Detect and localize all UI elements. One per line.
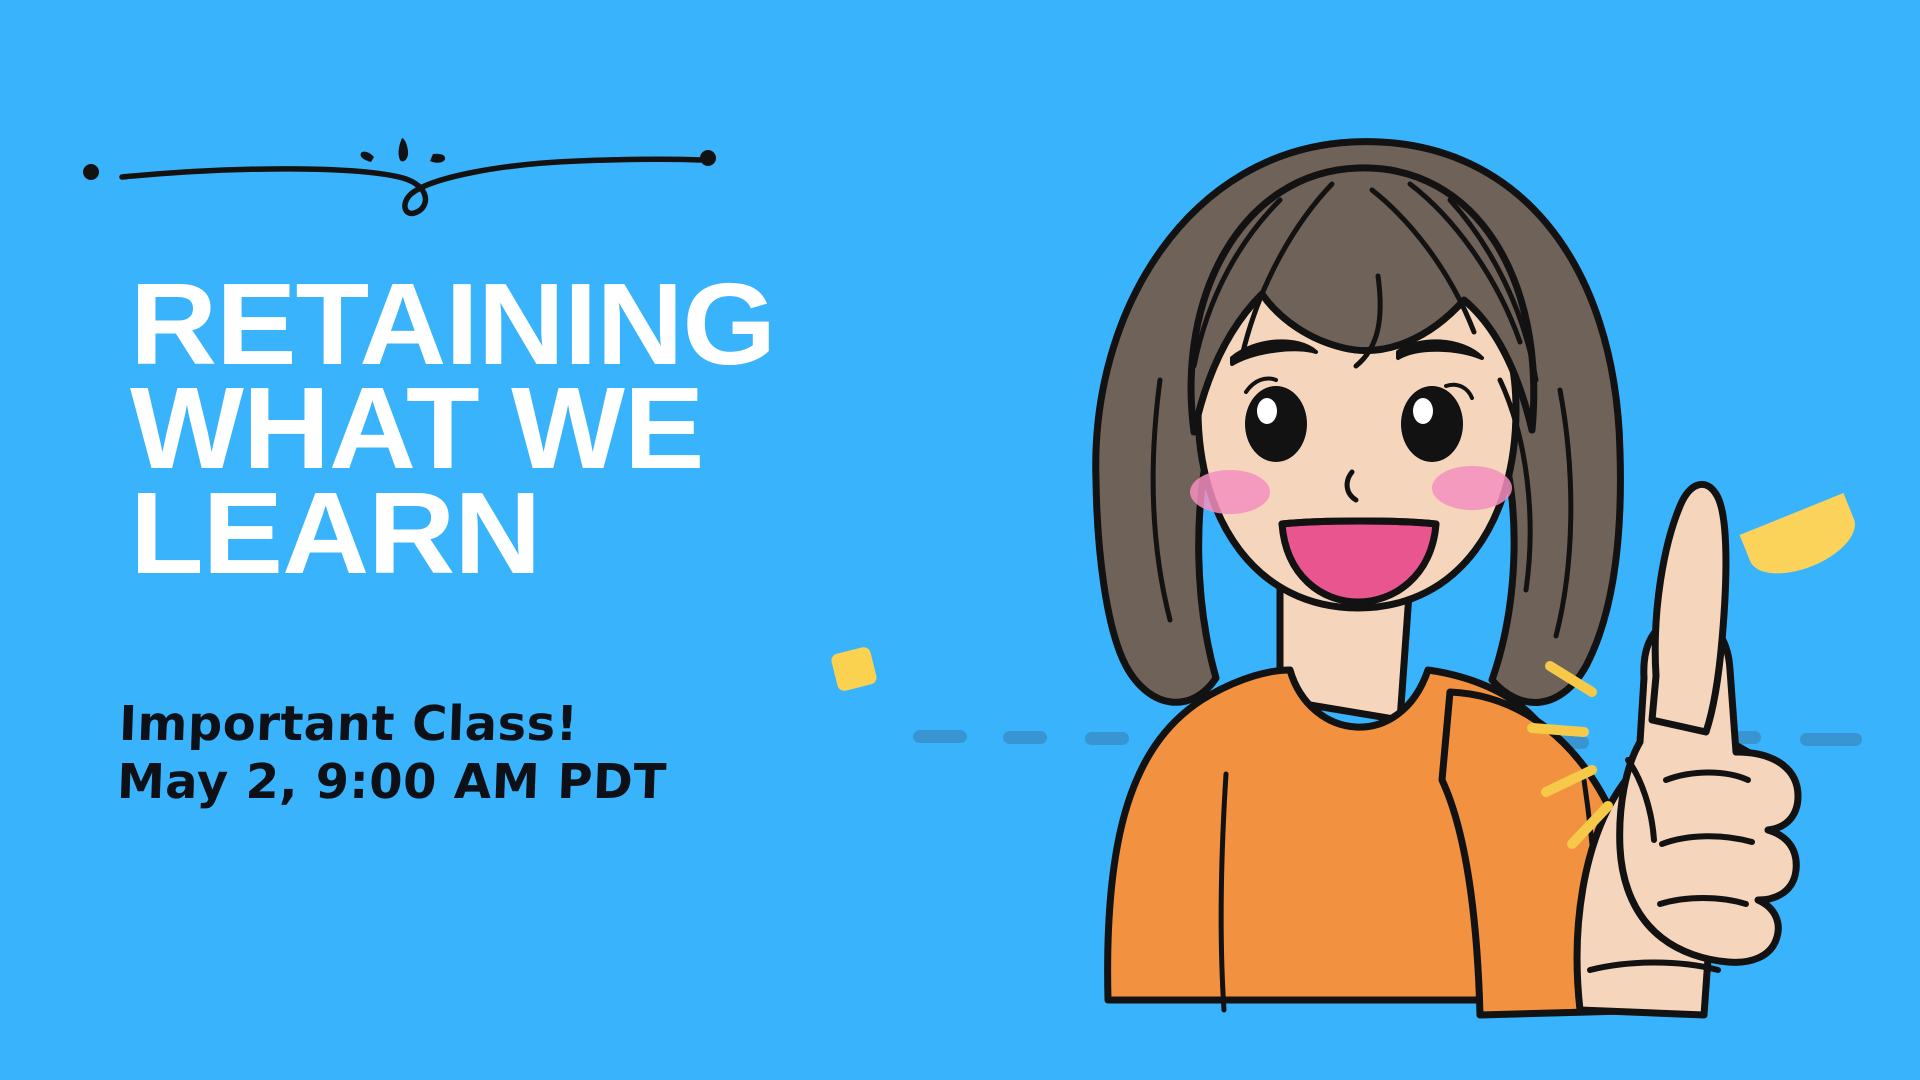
eyelash-left: [1246, 379, 1276, 393]
mouth: [1282, 521, 1436, 602]
knuckle-line-3: [1660, 898, 1746, 904]
page-title: RETAINING WHAT WE LEARN: [130, 272, 920, 585]
eyebrow-right: [1398, 341, 1482, 358]
neck: [1280, 580, 1410, 720]
thumb-line: [1628, 760, 1654, 840]
subtitle-text: Important Class! May 2, 9:00 AM PDT: [116, 696, 670, 811]
blush-right: [1432, 466, 1512, 510]
blue-dash-2: [1003, 731, 1047, 744]
eye-right: [1401, 386, 1463, 462]
knuckle-line-2: [1662, 836, 1752, 844]
hair-bangs: [1191, 168, 1534, 432]
hand: [1620, 618, 1798, 962]
hair-back: [1096, 142, 1621, 703]
sweater-sleeve-right: [1442, 692, 1660, 1015]
flourish-line: [122, 159, 700, 213]
hair-strand-7: [1556, 390, 1571, 636]
index-finger: [1652, 484, 1726, 732]
knuckle-line-1: [1666, 773, 1748, 781]
hair-strand-3: [1372, 190, 1474, 332]
blush-left: [1190, 470, 1270, 514]
forearm: [1577, 728, 1762, 1015]
hair-strand-5: [1450, 200, 1536, 380]
eyelash-right: [1446, 385, 1472, 398]
mouth-upper-line: [1282, 521, 1436, 524]
sweater-body: [1108, 670, 1540, 1000]
blue-dash-4: [1533, 736, 1589, 749]
hair-strand-4: [1410, 184, 1520, 342]
eye-left: [1245, 386, 1307, 462]
sparkle-ray-4: [1572, 806, 1608, 844]
promo-slide: RETAINING WHAT WE LEARN Important Class!…: [0, 0, 1920, 1080]
hair-strand-9: [1356, 276, 1380, 366]
blue-dash-5: [1703, 731, 1761, 744]
sparkle-ray-1: [1550, 666, 1592, 692]
hair-strand-6: [1153, 380, 1170, 620]
blue-dash-3: [1085, 732, 1129, 745]
yellow-halfmoon-accent: [1740, 493, 1865, 587]
eyebrow-left: [1232, 341, 1316, 364]
flourish-decoration: [78, 120, 738, 240]
nose: [1347, 472, 1356, 500]
flourish-right-dot: [700, 150, 716, 166]
eye-highlight-left: [1257, 398, 1277, 424]
headline-block: RETAINING WHAT WE LEARN: [130, 272, 890, 585]
face: [1198, 230, 1516, 608]
sparkle-ray-3: [1546, 770, 1592, 792]
blue-dash-1: [913, 730, 967, 743]
sparkle-rays: [1532, 666, 1608, 844]
eye-highlight-right: [1413, 398, 1433, 424]
hair-strand-2: [1242, 184, 1332, 356]
sparkle-mark-right: [430, 154, 445, 163]
sleeve-fold-left: [1221, 774, 1226, 1010]
character-illustration: [980, 80, 1920, 1080]
yellow-square-accent: [830, 646, 878, 693]
hair-strand-1: [1194, 200, 1280, 366]
sparkle-ray-2: [1532, 728, 1584, 732]
sparkle-mark-left: [361, 152, 374, 162]
blue-dash-6: [1800, 733, 1862, 746]
hair-strand-8: [1500, 380, 1530, 590]
flourish-left-dot: [83, 164, 99, 180]
sleeve-fold-right: [1584, 780, 1600, 1010]
wrist-line: [1590, 963, 1718, 971]
sparkle-mark-center: [399, 138, 409, 161]
